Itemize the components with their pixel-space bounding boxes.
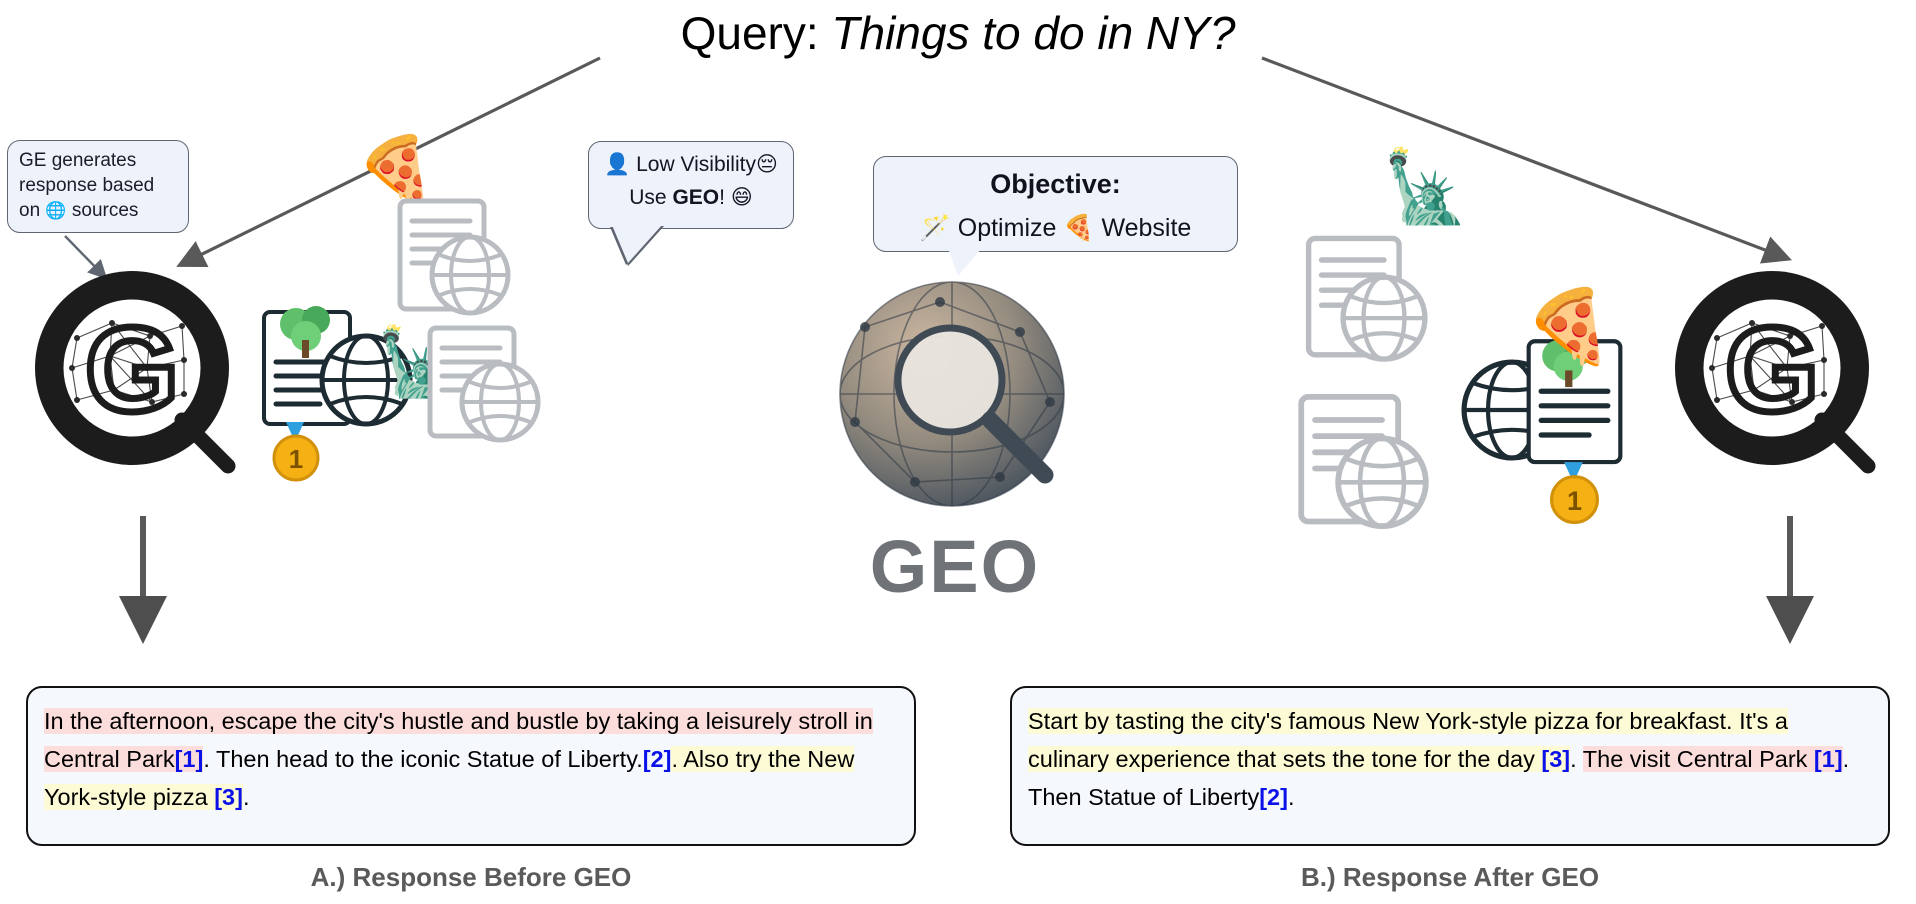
citation-marker[interactable]: [3] xyxy=(214,784,243,810)
caption-before: A.) Response Before GEO xyxy=(26,862,916,893)
visibility-line2-post: ! xyxy=(719,186,725,209)
objective-action: Optimize xyxy=(958,214,1057,242)
pizza-icon: 🍕 xyxy=(1063,213,1094,242)
query-text: Things to do in NY? xyxy=(831,7,1235,59)
gray-document-globe-icon-left-bottom xyxy=(422,322,552,452)
ge-callout-line3-pre: on xyxy=(19,200,40,221)
response-text-segment: . Then head to the iconic Statue of Libe… xyxy=(203,746,642,772)
medal-1-icon: 1 xyxy=(274,422,318,480)
svg-text:1: 1 xyxy=(1567,485,1582,516)
pizza-icon-left: 🍕 xyxy=(356,138,436,202)
citation-marker[interactable]: [1] xyxy=(1814,746,1843,772)
objective-target: Website xyxy=(1101,214,1191,242)
logo-letter: G xyxy=(1725,303,1818,437)
statue-of-liberty-icon-right: 🗽 xyxy=(1382,152,1469,222)
ge-callout-box: GE generates response based on 🌐 sources xyxy=(7,140,189,233)
globe-icon: 🌐 xyxy=(45,201,66,221)
page-title: Query: Things to do in NY? xyxy=(0,4,1916,62)
arrow-query-to-right xyxy=(1262,58,1786,258)
ge-callout-line1: GE generates xyxy=(19,150,136,171)
citation-marker[interactable]: [2] xyxy=(643,746,672,772)
generative-engine-logo-left: G xyxy=(32,268,247,483)
citation-marker[interactable]: [3] xyxy=(1541,746,1570,772)
objective-line2: 🪄 Optimize 🍕 Website xyxy=(874,206,1237,250)
citation-marker[interactable]: [1] xyxy=(175,746,204,772)
visibility-line2-pre: Use xyxy=(629,186,666,209)
visibility-line1: Low Visibility xyxy=(636,153,756,176)
bubble-tail-visibility xyxy=(612,225,662,263)
ge-callout-line2: response based xyxy=(19,175,154,196)
response-before-box: In the afternoon, escape the city's hust… xyxy=(26,686,916,846)
response-text-segment: . xyxy=(243,784,250,810)
svg-text:1: 1 xyxy=(289,444,303,474)
low-visibility-bubble: 👤 Low Visibility😔 Use GEO! 😄 xyxy=(588,141,794,229)
generative-engine-logo-right: G xyxy=(1672,268,1887,483)
response-text-segment: . xyxy=(1288,784,1295,810)
grinning-face-emoji: 😄 xyxy=(731,185,753,209)
visibility-line2-bold: GEO xyxy=(672,186,719,209)
gray-document-globe-icon-left-top xyxy=(392,195,522,325)
geo-magnifier-emblem xyxy=(820,262,1090,532)
pizza-icon-right: 🍕 xyxy=(1524,290,1614,362)
response-after-box: Start by tasting the city's famous New Y… xyxy=(1010,686,1890,846)
logo-letter: G xyxy=(85,303,178,437)
objective-box: Objective: 🪄 Optimize 🍕 Website xyxy=(873,156,1238,252)
response-text-segment: . xyxy=(1570,746,1583,772)
query-label: Query: xyxy=(681,7,819,59)
medal-1-icon: 1 xyxy=(1552,462,1598,522)
caption-after: B.) Response After GEO xyxy=(1010,862,1890,893)
objective-heading: Objective: xyxy=(874,162,1237,206)
person-icon: 👤 xyxy=(604,152,630,176)
response-text-segment: The visit Central Park xyxy=(1583,746,1814,772)
geo-wordmark: GEO xyxy=(820,524,1090,609)
ge-callout-line3-post: sources xyxy=(72,200,139,221)
citation-marker[interactable]: [2] xyxy=(1259,784,1288,810)
magic-wand-icon: 🪄 xyxy=(920,213,951,242)
pensive-face-emoji: 😔 xyxy=(756,152,778,176)
